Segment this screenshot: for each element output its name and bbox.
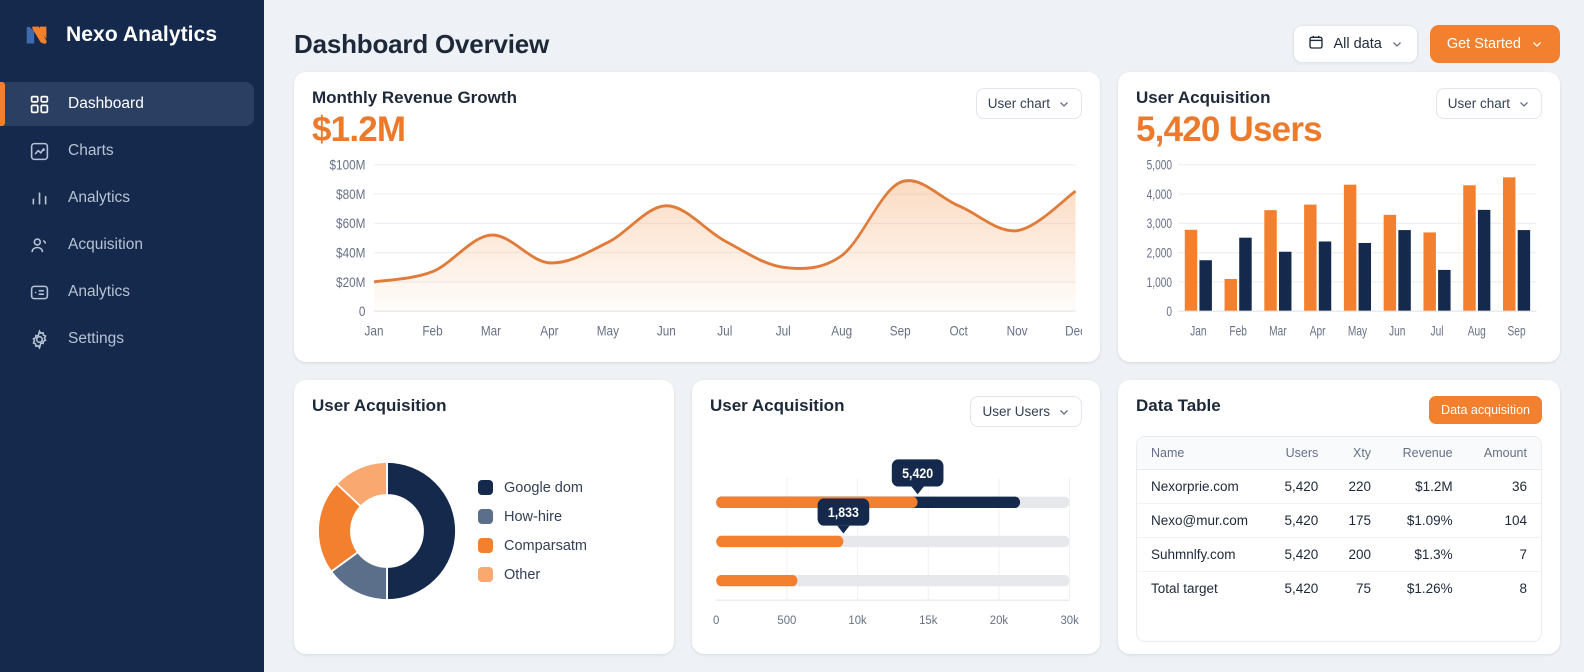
card-acquisition-hbars: User Acquisition User Users 5,4201,83305… bbox=[692, 380, 1100, 654]
chevron-down-icon bbox=[1058, 406, 1070, 418]
table-cell: 5,420 bbox=[1268, 572, 1333, 606]
svg-text:Aug: Aug bbox=[1468, 323, 1486, 339]
dashboard-grid: Monthly Revenue Growth $1.2M User chart … bbox=[294, 72, 1560, 672]
card-monthly-revenue: Monthly Revenue Growth $1.2M User chart … bbox=[294, 72, 1100, 362]
svg-text:30k: 30k bbox=[1060, 612, 1078, 627]
date-filter-button[interactable]: All data bbox=[1293, 25, 1417, 63]
table-cell: 200 bbox=[1332, 538, 1385, 572]
sidebar-item-charts[interactable]: Charts bbox=[0, 129, 254, 173]
calendar-icon bbox=[1308, 34, 1324, 54]
chevron-down-icon bbox=[1518, 98, 1530, 110]
table-cell: 7 bbox=[1467, 538, 1541, 572]
svg-text:Jan: Jan bbox=[1190, 323, 1206, 339]
card-title: Monthly Revenue Growth bbox=[312, 88, 517, 108]
date-filter-label: All data bbox=[1333, 36, 1381, 52]
data-acquisition-label: Data acquisition bbox=[1441, 403, 1530, 417]
bar-chart-icon bbox=[28, 187, 50, 209]
sidebar-item-analytics-2[interactable]: Analytics bbox=[0, 270, 254, 314]
svg-text:500: 500 bbox=[777, 612, 796, 627]
svg-text:May: May bbox=[1348, 323, 1367, 339]
svg-text:Dec: Dec bbox=[1065, 324, 1082, 339]
svg-text:3,000: 3,000 bbox=[1147, 216, 1173, 232]
data-table: NameUsersXtyRevenueAmount Nexorprie.com5… bbox=[1137, 437, 1541, 605]
main-content: Dashboard Overview All data Get S bbox=[264, 0, 1584, 672]
sidebar: Nexo Analytics Dashboard bbox=[0, 0, 264, 672]
data-acquisition-button[interactable]: Data acquisition bbox=[1429, 396, 1542, 424]
svg-text:Jan: Jan bbox=[365, 324, 384, 339]
sidebar-item-label: Analytics bbox=[68, 189, 130, 207]
table-column-header: Xty bbox=[1332, 437, 1385, 470]
table-column-header: Amount bbox=[1467, 437, 1541, 470]
get-started-button[interactable]: Get Started bbox=[1430, 25, 1560, 63]
table-cell: 5,420 bbox=[1268, 538, 1333, 572]
table-cell: 220 bbox=[1332, 470, 1385, 504]
chevron-down-icon bbox=[1058, 98, 1070, 110]
topbar: Dashboard Overview All data Get S bbox=[294, 16, 1560, 72]
svg-text:1,000: 1,000 bbox=[1147, 274, 1173, 290]
card-acquisition-donut: User Acquisition Google domHow-hireCompa… bbox=[294, 380, 674, 654]
svg-text:5,000: 5,000 bbox=[1147, 157, 1173, 173]
svg-text:20k: 20k bbox=[990, 612, 1008, 627]
table-cell: Total target bbox=[1137, 572, 1268, 606]
svg-text:Mar: Mar bbox=[481, 324, 501, 339]
revenue-stat: $1.2M bbox=[312, 112, 517, 149]
users-icon bbox=[28, 234, 50, 256]
legend-item: How-hire bbox=[478, 509, 587, 525]
grid-icon bbox=[28, 93, 50, 115]
svg-text:0: 0 bbox=[1166, 303, 1172, 319]
legend-swatch bbox=[478, 538, 493, 553]
table-cell: 75 bbox=[1332, 572, 1385, 606]
sidebar-item-label: Settings bbox=[68, 330, 124, 348]
table-row[interactable]: Total target5,42075$1.26%8 bbox=[1137, 572, 1541, 606]
legend-label: Google dom bbox=[504, 480, 583, 496]
svg-text:0: 0 bbox=[359, 304, 366, 319]
chevron-down-icon bbox=[1391, 38, 1403, 50]
svg-text:Feb: Feb bbox=[1229, 323, 1247, 339]
svg-text:Jul: Jul bbox=[717, 324, 732, 339]
table-cell: 104 bbox=[1467, 504, 1541, 538]
table-cell: 8 bbox=[1467, 572, 1541, 606]
dropdown-label: User chart bbox=[988, 96, 1050, 111]
legend-label: Comparsatm bbox=[504, 538, 587, 554]
horizontal-bar-plot: 5,4201,833050010k15k20k30k bbox=[710, 433, 1082, 642]
gear-icon bbox=[28, 328, 50, 350]
revenue-area-plot: 0$20M$40M$60M$80M$100MJanFebMarAprMayJun… bbox=[312, 155, 1082, 350]
card-title: User Acquisition bbox=[312, 396, 446, 416]
table-head: NameUsersXtyRevenueAmount bbox=[1137, 437, 1541, 470]
svg-text:Apr: Apr bbox=[540, 324, 558, 339]
card-title: User Acquisition bbox=[1136, 88, 1322, 108]
legend-item: Comparsatm bbox=[478, 538, 587, 554]
chevron-down-icon bbox=[1531, 38, 1543, 50]
svg-text:4,000: 4,000 bbox=[1147, 186, 1173, 202]
revenue-chart-type-dropdown[interactable]: User chart bbox=[976, 88, 1082, 119]
svg-text:Nov: Nov bbox=[1007, 324, 1029, 339]
svg-text:Jul: Jul bbox=[1431, 323, 1444, 339]
legend-swatch bbox=[478, 567, 493, 582]
svg-text:2,000: 2,000 bbox=[1147, 245, 1173, 261]
chart-line-icon bbox=[28, 140, 50, 162]
sidebar-nav: Dashboard Charts Analy bbox=[0, 82, 264, 361]
table-column-header: Users bbox=[1268, 437, 1333, 470]
donut-legend: Google domHow-hireComparsatmOther bbox=[478, 480, 587, 583]
table-cell: Nexorprie.com bbox=[1137, 470, 1268, 504]
legend-label: Other bbox=[504, 567, 540, 583]
svg-text:1,833: 1,833 bbox=[828, 505, 859, 521]
table-cell: Suhmnlfy.com bbox=[1137, 538, 1268, 572]
sidebar-item-acquisition[interactable]: Acquisition bbox=[0, 223, 254, 267]
dropdown-label: User Users bbox=[982, 404, 1050, 419]
brand: Nexo Analytics bbox=[0, 0, 264, 74]
legend-label: How-hire bbox=[504, 509, 562, 525]
svg-text:Mar: Mar bbox=[1269, 323, 1286, 339]
svg-text:Sep: Sep bbox=[1508, 323, 1526, 339]
topbar-actions: All data Get Started bbox=[1293, 25, 1560, 63]
dropdown-label: User chart bbox=[1448, 96, 1510, 111]
card-header: Monthly Revenue Growth $1.2M User chart bbox=[312, 88, 1082, 149]
card-user-acquisition-bars: User Acquisition 5,420 Users User chart … bbox=[1118, 72, 1560, 362]
table-column-header: Revenue bbox=[1385, 437, 1467, 470]
sidebar-item-label: Dashboard bbox=[68, 95, 144, 113]
user-acquisition-bar-plot: 01,0002,0003,0004,0005,000JanFebMarAprMa… bbox=[1136, 155, 1542, 350]
users-stat: 5,420 Users bbox=[1136, 112, 1322, 149]
svg-text:Jul: Jul bbox=[776, 324, 791, 339]
sidebar-item-label: Acquisition bbox=[68, 236, 143, 254]
card-title: User Acquisition bbox=[710, 396, 844, 416]
svg-text:Jun: Jun bbox=[657, 324, 676, 339]
sidebar-item-label: Charts bbox=[68, 142, 114, 160]
donut-wrap: Google domHow-hireComparsatmOther bbox=[312, 416, 656, 642]
svg-text:$20M: $20M bbox=[336, 275, 365, 290]
legend-swatch bbox=[478, 509, 493, 524]
svg-text:May: May bbox=[597, 324, 620, 339]
svg-text:Jun: Jun bbox=[1389, 323, 1405, 339]
table-cell: $1.2M bbox=[1385, 470, 1467, 504]
table-body: Nexorprie.com5,420220$1.2M36Nexo@mur.com… bbox=[1137, 470, 1541, 606]
table-cell: $1.26% bbox=[1385, 572, 1467, 606]
table-cell: 175 bbox=[1332, 504, 1385, 538]
legend-item: Other bbox=[478, 567, 587, 583]
table-row[interactable]: Nexorprie.com5,420220$1.2M36 bbox=[1137, 470, 1541, 504]
table-cell: 36 bbox=[1467, 470, 1541, 504]
svg-text:5,420: 5,420 bbox=[902, 465, 933, 481]
svg-text:0: 0 bbox=[713, 612, 720, 627]
brand-name: Nexo Analytics bbox=[66, 23, 217, 47]
app-root: Nexo Analytics Dashboard bbox=[0, 0, 1584, 672]
table-row[interactable]: Suhmnlfy.com5,420200$1.3%7 bbox=[1137, 538, 1541, 572]
svg-text:Oct: Oct bbox=[950, 324, 969, 339]
get-started-label: Get Started bbox=[1447, 36, 1521, 52]
nexo-n-logo-icon bbox=[22, 20, 52, 50]
donut-chart bbox=[312, 456, 462, 606]
svg-text:15k: 15k bbox=[919, 612, 937, 627]
table-cell: $1.09% bbox=[1385, 504, 1467, 538]
svg-text:$40M: $40M bbox=[336, 246, 365, 261]
card-header: User Acquisition bbox=[312, 396, 656, 416]
svg-text:Feb: Feb bbox=[422, 324, 442, 339]
sidebar-item-settings[interactable]: Settings bbox=[0, 317, 254, 361]
table-row[interactable]: Nexo@mur.com5,420175$1.09%104 bbox=[1137, 504, 1541, 538]
card-title: Data Table bbox=[1136, 396, 1221, 416]
data-table-wrap: NameUsersXtyRevenueAmount Nexorprie.com5… bbox=[1136, 436, 1542, 642]
card-header: User Acquisition 5,420 Users User chart bbox=[1136, 88, 1542, 149]
svg-text:Apr: Apr bbox=[1310, 323, 1326, 339]
table-cell: Nexo@mur.com bbox=[1137, 504, 1268, 538]
svg-text:Sep: Sep bbox=[890, 324, 911, 339]
svg-text:10k: 10k bbox=[848, 612, 866, 627]
sidebar-item-analytics[interactable]: Analytics bbox=[0, 176, 254, 220]
table-cell: $1.3% bbox=[1385, 538, 1467, 572]
useracq-chart-type-dropdown[interactable]: User chart bbox=[1436, 88, 1542, 119]
table-header-row: NameUsersXtyRevenueAmount bbox=[1137, 437, 1541, 470]
sidebar-item-label: Analytics bbox=[68, 283, 130, 301]
card-list-icon bbox=[28, 281, 50, 303]
card-header: User Acquisition User Users bbox=[710, 396, 1082, 427]
hbar-type-dropdown[interactable]: User Users bbox=[970, 396, 1082, 427]
svg-text:$60M: $60M bbox=[336, 216, 365, 231]
table-cell: 5,420 bbox=[1268, 470, 1333, 504]
legend-item: Google dom bbox=[478, 480, 587, 496]
legend-swatch bbox=[478, 480, 493, 495]
card-header: Data Table Data acquisition bbox=[1136, 396, 1542, 424]
table-column-header: Name bbox=[1137, 437, 1268, 470]
table-cell: 5,420 bbox=[1268, 504, 1333, 538]
svg-text:$80M: $80M bbox=[336, 187, 365, 202]
svg-text:Aug: Aug bbox=[831, 324, 852, 339]
page-title: Dashboard Overview bbox=[294, 29, 549, 60]
sidebar-item-dashboard[interactable]: Dashboard bbox=[0, 82, 254, 126]
svg-text:$100M: $100M bbox=[330, 158, 366, 173]
card-data-table: Data Table Data acquisition NameUsersXty… bbox=[1118, 380, 1560, 654]
